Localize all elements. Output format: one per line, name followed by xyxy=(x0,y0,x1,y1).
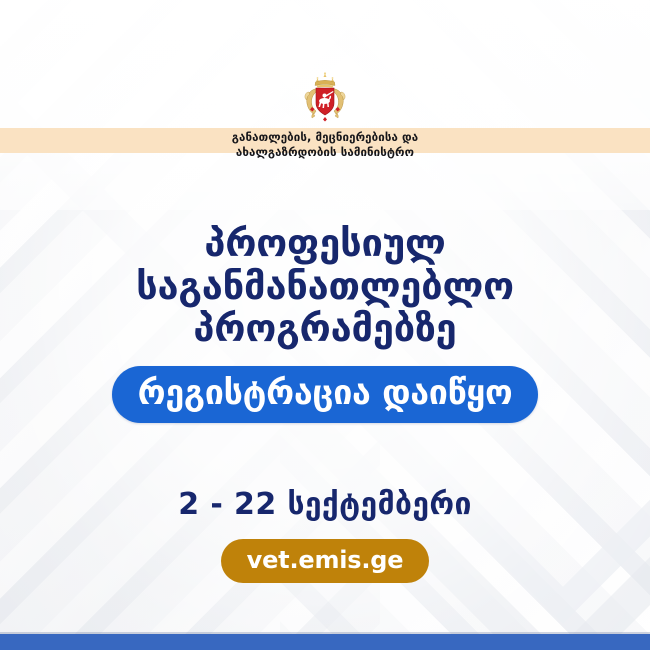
ministry-name: განათლების, მეცნიერებისა და ახალგაზრდობი… xyxy=(232,130,418,160)
headline-line-2: საგანმანათლებლო xyxy=(0,265,650,308)
website-link-wrap: vet.emis.ge xyxy=(0,539,650,583)
bottom-accent-strip xyxy=(0,634,650,650)
announcement-poster: განათლების, მეცნიერებისა და ახალგაზრდობი… xyxy=(0,0,650,650)
ministry-header: განათლების, მეცნიერებისა და ახალგაზრდობი… xyxy=(0,72,650,160)
headline-line-1: პროფესიულ xyxy=(0,222,650,265)
page-title: პროფესიულ საგანმანათლებლო პროგრამებზე xyxy=(0,222,650,350)
georgia-coat-of-arms-icon xyxy=(302,72,348,122)
website-url-badge[interactable]: vet.emis.ge xyxy=(221,539,430,583)
ministry-name-line-1: განათლების, მეცნიერებისა და xyxy=(232,130,418,145)
registration-open-badge: რეგისტრაცია დაიწყო xyxy=(112,366,539,423)
registration-callout: რეგისტრაცია დაიწყო xyxy=(0,366,650,423)
date-range: 2 - 22 სექტემბერი xyxy=(0,487,650,522)
ministry-name-line-2: ახალგაზრდობის სამინისტრო xyxy=(232,145,418,160)
headline-line-3: პროგრამებზე xyxy=(0,307,650,350)
